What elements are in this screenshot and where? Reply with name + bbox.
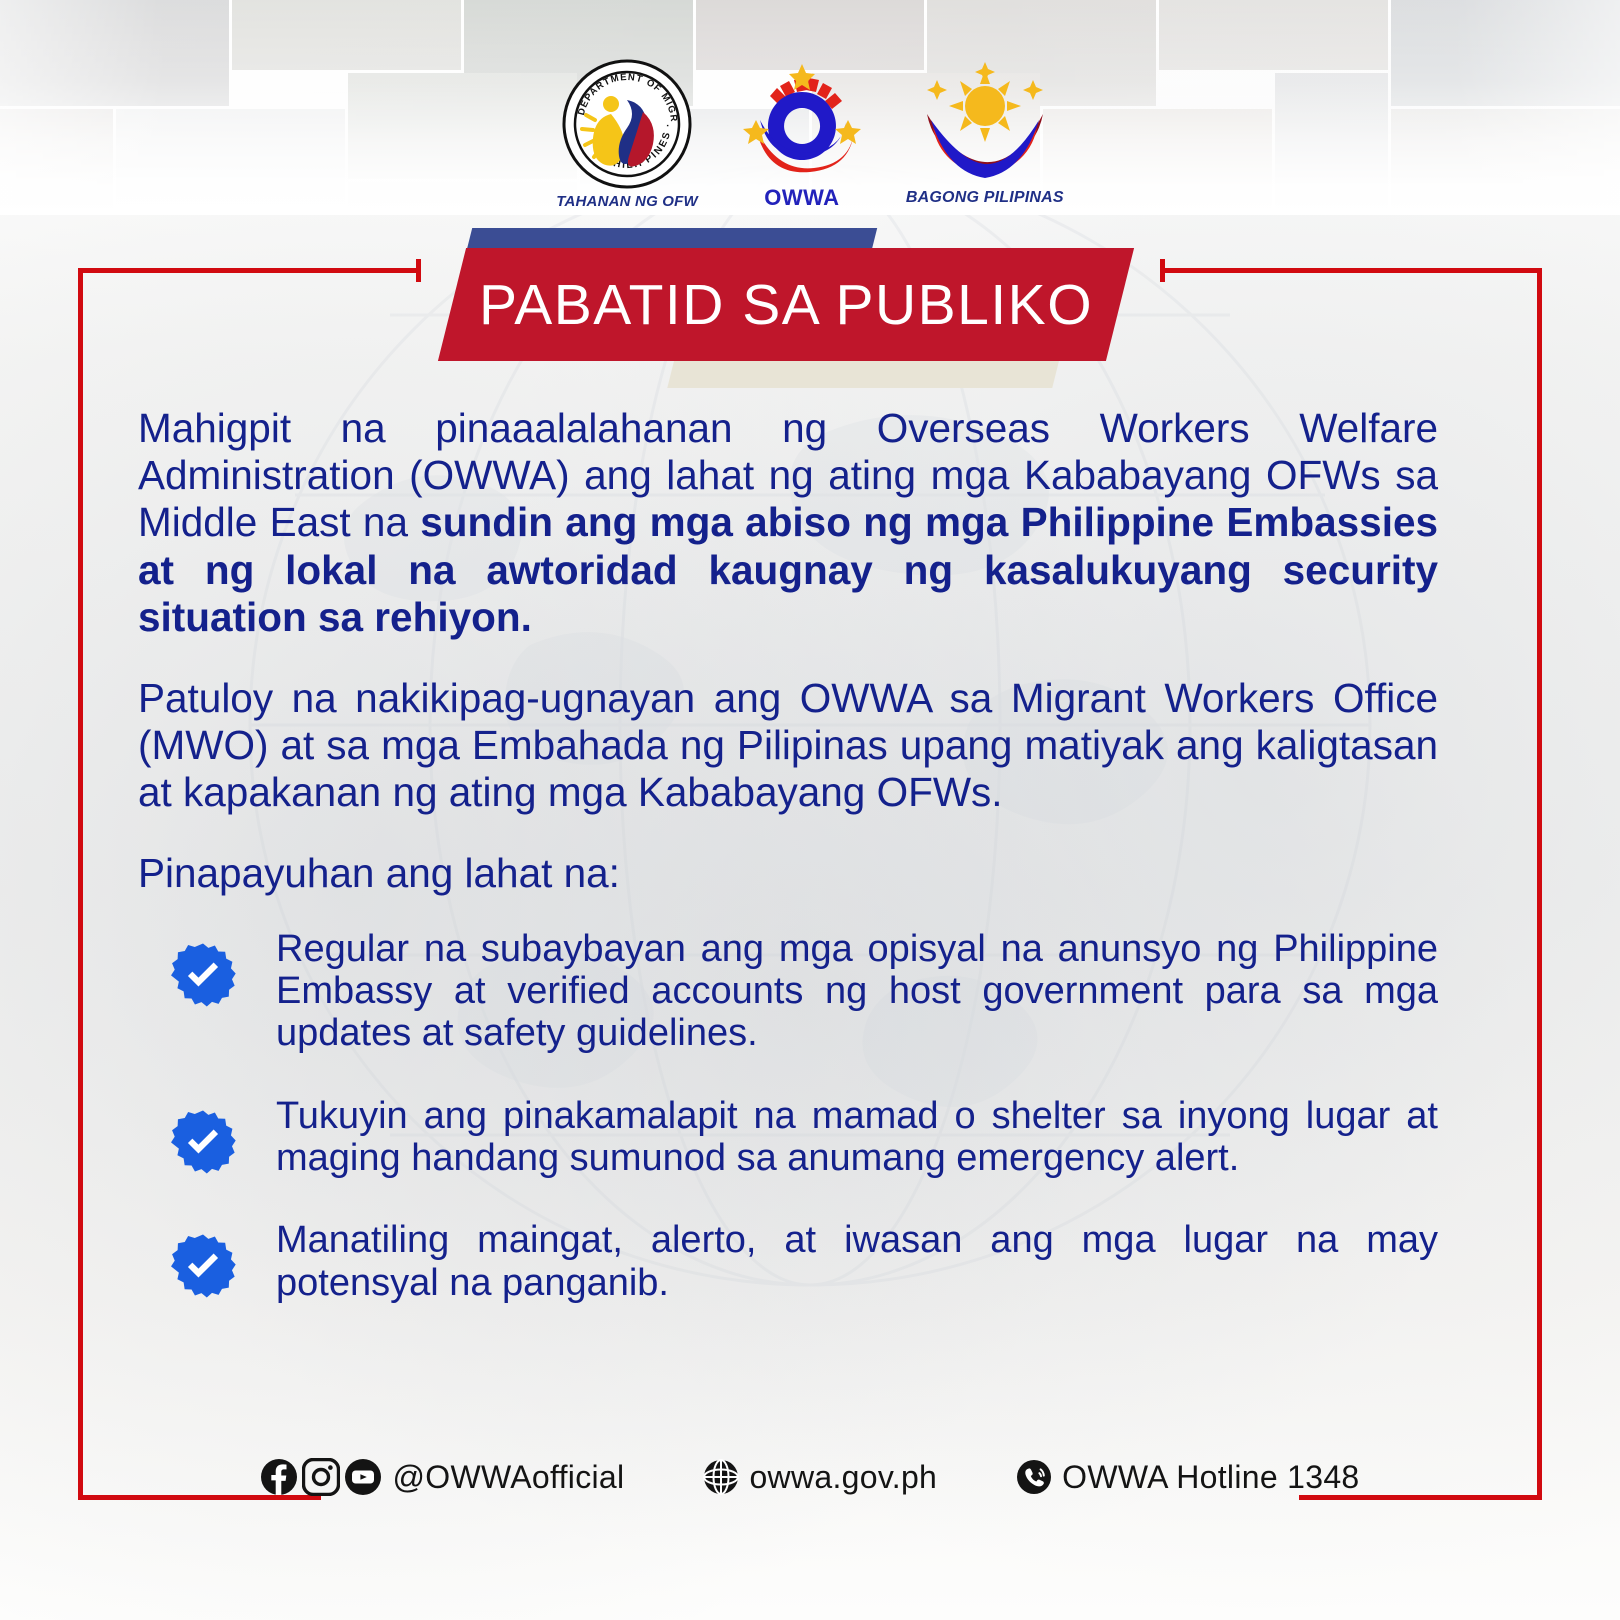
bagong-pilipinas-icon	[919, 58, 1051, 186]
list-item: Manatiling maingat, alerto, at iwasan an…	[138, 1219, 1438, 1304]
facebook-icon[interactable]	[260, 1458, 298, 1496]
logo-owwa: OWWA	[740, 58, 864, 211]
list-item-text: Regular na subaybayan ang mga opisyal na…	[276, 928, 1438, 1055]
youtube-icon[interactable]	[344, 1458, 382, 1496]
banner-title: PABATID SA PUBLIKO	[452, 248, 1120, 361]
logo-caption-bagong-pilipinas: BAGONG PILIPINAS	[906, 189, 1064, 207]
logo-caption-dmw: TAHANAN NG OFW	[556, 193, 698, 210]
poster-canvas: DEPARTMENT OF MIGRANT WORKERS · PHILIPPI…	[0, 0, 1620, 1620]
verified-check-icon	[170, 1109, 236, 1175]
instagram-icon[interactable]	[302, 1458, 340, 1496]
logo-bagong-pilipinas: BAGONG PILIPINAS	[906, 58, 1064, 207]
social-links[interactable]: @OWWAofficial	[260, 1458, 624, 1496]
logo-row: DEPARTMENT OF MIGRANT WORKERS · PHILIPPI…	[0, 58, 1620, 211]
hotline-info[interactable]: OWWA Hotline 1348	[1015, 1458, 1359, 1496]
advice-checklist: Regular na subaybayan ang mga opisyal na…	[138, 928, 1438, 1305]
verified-check-icon	[170, 1233, 236, 1299]
list-item: Regular na subaybayan ang mga opisyal na…	[138, 928, 1438, 1055]
dmw-seal-icon: DEPARTMENT OF MIGRANT WORKERS · PHILIPPI…	[561, 58, 693, 190]
list-item-text: Manatiling maingat, alerto, at iwasan an…	[276, 1219, 1438, 1304]
frame-border-right	[1537, 268, 1542, 1500]
logo-caption-owwa: OWWA	[764, 185, 839, 211]
list-item-text: Tukuyin ang pinakamalapit na mamad o she…	[276, 1095, 1438, 1180]
hotline-text: OWWA Hotline 1348	[1062, 1459, 1359, 1496]
logo-dmw: DEPARTMENT OF MIGRANT WORKERS · PHILIPPI…	[556, 58, 698, 210]
website-link[interactable]: owwa.gov.ph	[702, 1458, 937, 1496]
phone-ring-icon[interactable]	[1015, 1458, 1053, 1496]
social-handle-text: @OWWAofficial	[392, 1459, 624, 1496]
website-text: owwa.gov.ph	[749, 1459, 937, 1496]
globe-icon[interactable]	[702, 1458, 740, 1496]
lead-in-text: Pinapayuhan ang lahat na:	[138, 850, 1438, 897]
footer-bar: @OWWAofficial owwa.gov.ph	[0, 1458, 1620, 1496]
main-content: Mahigpit na pinaaalalahanan ng Overseas …	[138, 405, 1438, 1344]
frame-border-left	[78, 268, 83, 1500]
paragraph-1: Mahigpit na pinaaalalahanan ng Overseas …	[138, 405, 1438, 641]
list-item: Tukuyin ang pinakamalapit na mamad o she…	[138, 1095, 1438, 1180]
paragraph-2: Patuloy na nakikipag-ugnayan ang OWWA sa…	[138, 675, 1438, 817]
owwa-logo-icon	[740, 58, 864, 182]
banner: PABATID SA PUBLIKO	[0, 228, 1620, 388]
verified-check-icon	[170, 942, 236, 1008]
